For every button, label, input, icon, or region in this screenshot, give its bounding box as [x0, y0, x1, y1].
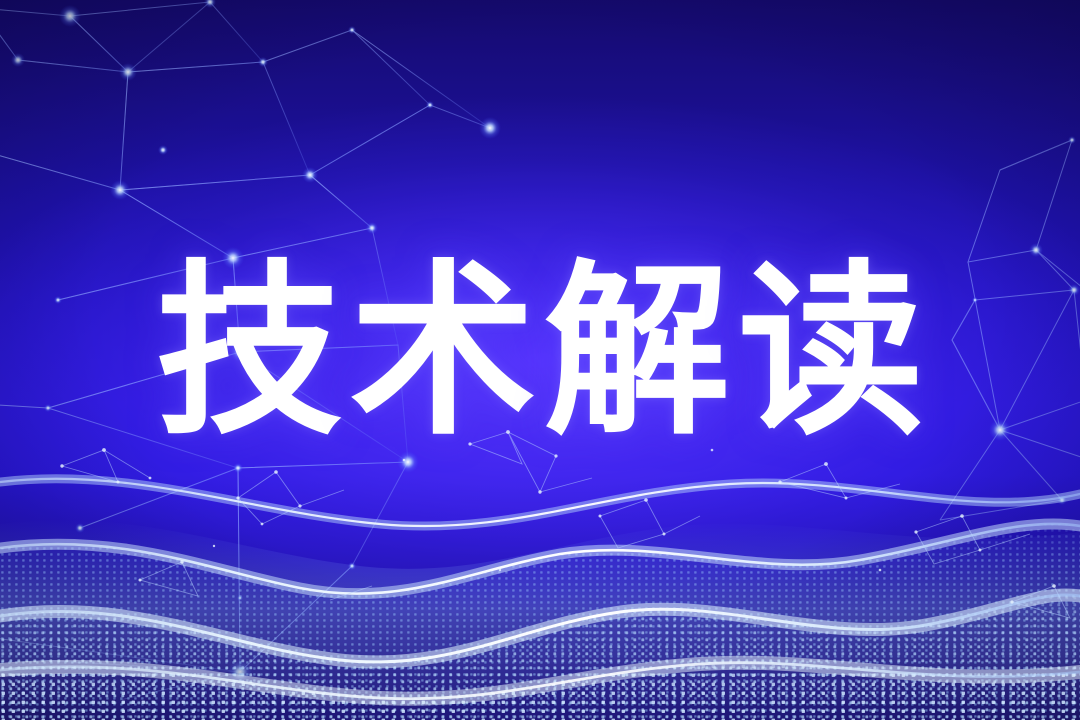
particle-wave-field — [0, 420, 1080, 720]
headline-char-1: 技 — [156, 259, 342, 445]
headline-container: 技 术 解 读 — [0, 248, 1080, 456]
banner-canvas: 技 术 解 读 — [0, 0, 1080, 720]
page-title: 技 术 解 读 — [156, 259, 924, 445]
headline-char-4: 读 — [738, 259, 924, 445]
headline-char-3: 解 — [544, 259, 730, 445]
headline-char-2: 术 — [350, 259, 536, 445]
